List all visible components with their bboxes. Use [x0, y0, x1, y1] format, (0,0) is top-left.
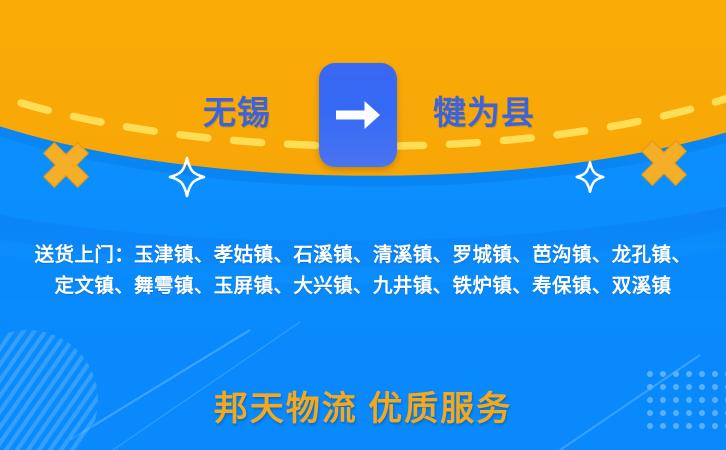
delivery-coverage-text: 送货上门：玉津镇、孝姑镇、石溪镇、清溪镇、罗城镇、芭沟镇、龙孔镇、 定文镇、舞雩…: [0, 240, 726, 302]
destination-city-label: 犍为县: [399, 98, 569, 131]
delivery-line-1: 送货上门：玉津镇、孝姑镇、石溪镇、清溪镇、罗城镇、芭沟镇、龙孔镇、: [0, 240, 726, 271]
logistics-route-banner: 无锡 犍为县 送货上门：玉津镇、孝姑镇、石溪镇、清溪镇、罗城镇、芭沟镇、龙孔镇、…: [0, 0, 726, 450]
arrow-right-icon: [332, 95, 384, 135]
company-slogan: 邦天物流 优质服务: [0, 388, 726, 432]
route-arrow-button[interactable]: [319, 63, 397, 167]
delivery-line-2: 定文镇、舞雩镇、玉屏镇、大兴镇、九井镇、铁炉镇、寿保镇、双溪镇: [0, 271, 726, 302]
origin-city-label: 无锡: [157, 98, 317, 131]
